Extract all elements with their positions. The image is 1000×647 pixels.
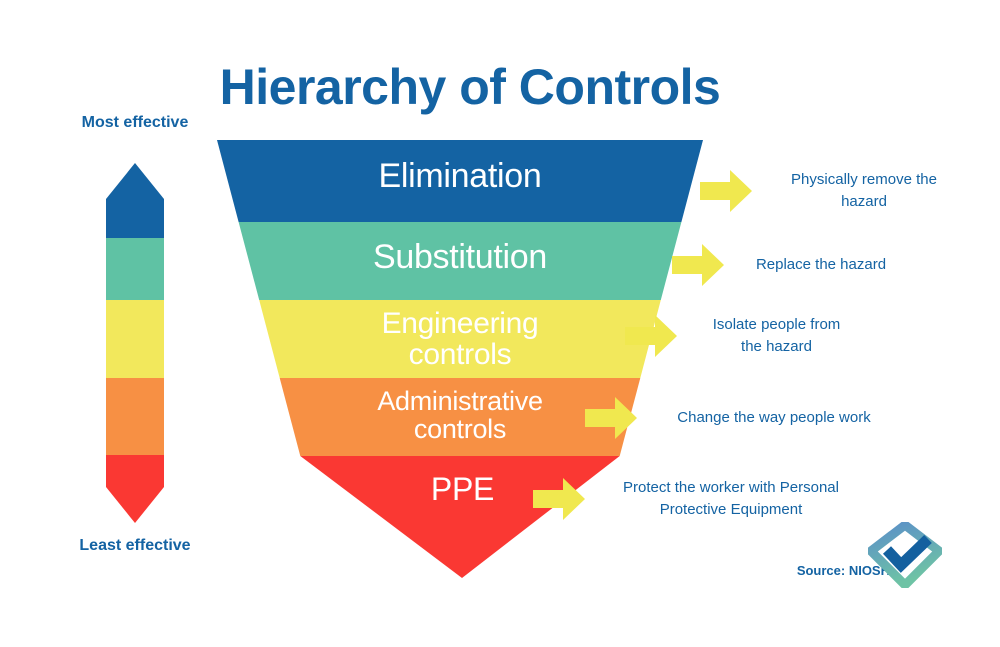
infographic-canvas: Hierarchy of Controls Most effective Lea…: [0, 0, 1000, 647]
page-title: Hierarchy of Controls: [0, 60, 940, 115]
annotation-text: Protect the worker with Personal Protect…: [597, 477, 865, 521]
right-arrow-icon: [625, 314, 677, 358]
gauge-band-red: [106, 455, 164, 523]
gauge-band-green: [106, 238, 164, 300]
annotation-administrative: Change the way people work: [585, 396, 899, 440]
funnel-band-elimination: [217, 140, 703, 222]
funnel-band-substitution: [239, 222, 682, 300]
funnel-band-engineering: [259, 300, 661, 378]
diamond-check-logo-icon: [868, 522, 942, 588]
annotation-substitution: Replace the hazard: [672, 243, 906, 287]
right-arrow-icon: [672, 243, 724, 287]
effectiveness-gauge: [106, 163, 164, 523]
source-credit: Source: NIOSH: [700, 563, 890, 578]
gauge-band-yellow: [106, 300, 164, 378]
annotation-engineering: Isolate people from the hazard: [625, 314, 864, 358]
gauge-label-least-effective: Least effective: [55, 536, 215, 556]
gauge-band-orange: [106, 378, 164, 455]
gauge-label-most-effective: Most effective: [55, 113, 215, 133]
annotation-text: Change the way people work: [649, 407, 899, 429]
annotation-text: Replace the hazard: [736, 254, 906, 276]
right-arrow-icon: [533, 477, 585, 521]
annotation-ppe: Protect the worker with Personal Protect…: [533, 477, 865, 521]
annotation-elimination: Physically remove the hazard: [700, 169, 964, 213]
gauge-band-blue: [106, 163, 164, 238]
right-arrow-icon: [585, 396, 637, 440]
annotation-text: Isolate people from the hazard: [689, 314, 864, 358]
right-arrow-icon: [700, 169, 752, 213]
annotation-text: Physically remove the hazard: [764, 169, 964, 213]
